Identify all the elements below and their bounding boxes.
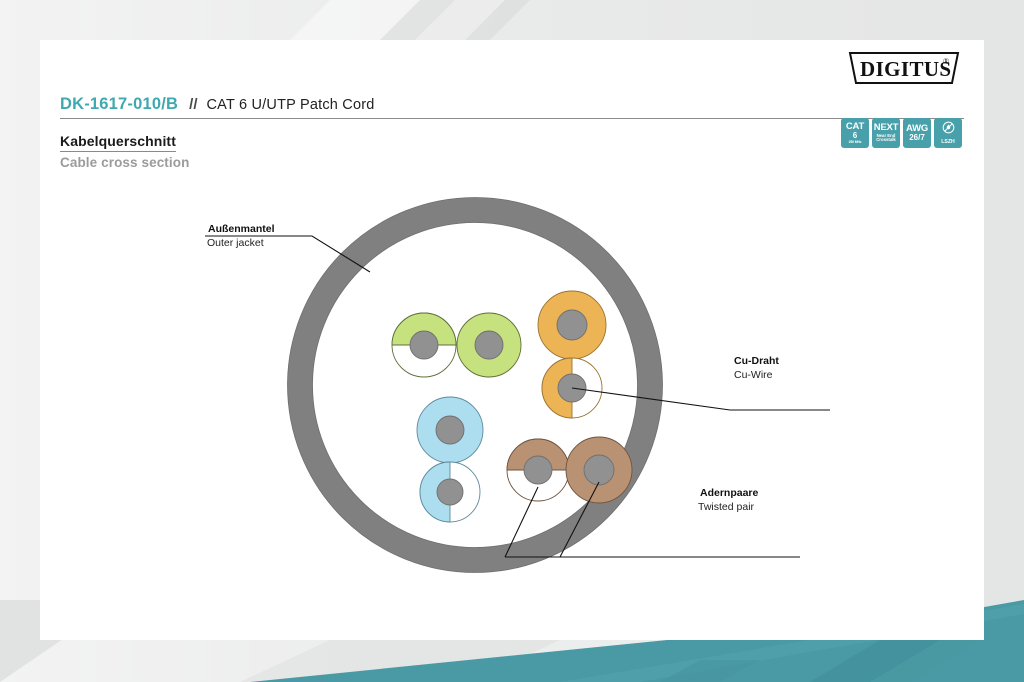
brown-wire-solid bbox=[566, 437, 632, 503]
orange-pair bbox=[538, 291, 606, 418]
blue-pair bbox=[417, 397, 483, 522]
cu-wire-label-de: Cu-Draht bbox=[734, 355, 779, 367]
green-pair bbox=[392, 313, 521, 377]
cu-wire-callout: Cu-Draht Cu-Wire bbox=[734, 355, 779, 381]
blue-wire-solid bbox=[417, 397, 483, 463]
cu-wire-label-en: Cu-Wire bbox=[734, 369, 773, 381]
brown-wire-striped bbox=[507, 439, 569, 501]
outer-jacket-ring bbox=[288, 198, 663, 573]
blue-wire-striped bbox=[420, 462, 480, 522]
twisted-pair-label-de: Adernpaare bbox=[700, 487, 759, 499]
twisted-pair-label-en: Twisted pair bbox=[698, 501, 755, 513]
cable-cross-section-diagram: Außenmantel Outer jacket Cu-Draht Cu-Wir… bbox=[40, 40, 984, 640]
green-wire-solid bbox=[457, 313, 521, 377]
twisted-pair-callout: Adernpaare Twisted pair bbox=[698, 487, 759, 513]
content-card: DIGITUS ® DK-1617-010/B // CAT 6 U/UTP P… bbox=[40, 40, 984, 640]
orange-wire-solid bbox=[538, 291, 606, 359]
green-wire-striped bbox=[392, 313, 456, 377]
outer-jacket-label-en: Outer jacket bbox=[207, 237, 264, 249]
brown-pair bbox=[507, 437, 632, 503]
outer-jacket-label-de: Außenmantel bbox=[208, 223, 275, 235]
